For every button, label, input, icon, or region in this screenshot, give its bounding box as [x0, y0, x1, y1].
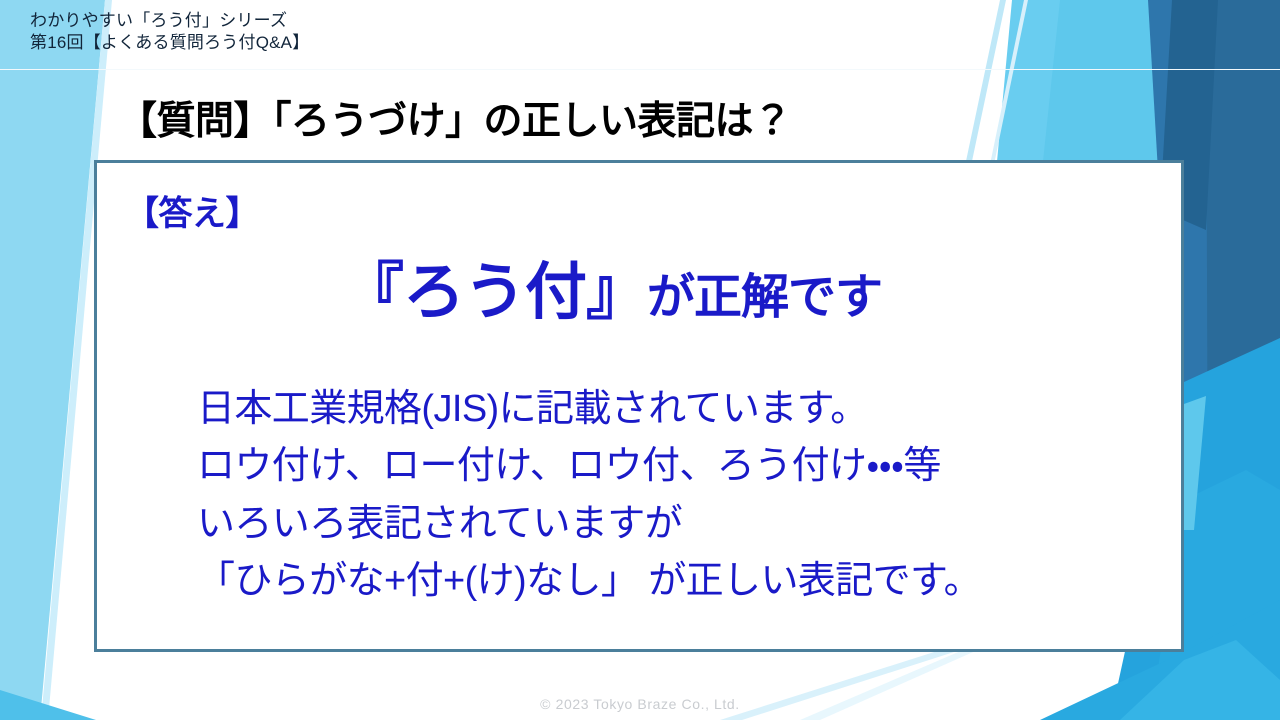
- answer-headline-emphasis: 『ろう付』: [342, 258, 647, 327]
- slide-canvas: わかりやすい「ろう付」シリーズ 第16回【よくある質問ろう付Q&A】 【質問】「…: [0, 0, 1280, 720]
- answer-body: 日本工業規格(JIS)に記載されています。 ロウ付け、ロー付け、ロウ付、ろう付け…: [197, 381, 981, 611]
- answer-label: 【答え】: [125, 186, 259, 235]
- answer-headline: 『ろう付』が正解です: [97, 241, 1187, 331]
- answer-headline-rest: が正解です: [647, 271, 882, 324]
- series-header-line1: わかりやすい「ろう付」シリーズ: [30, 10, 309, 32]
- answer-box: 【答え】 『ろう付』が正解です 日本工業規格(JIS)に記載されています。 ロウ…: [94, 160, 1184, 652]
- left-blue-wedge: [0, 0, 105, 720]
- series-header-line2: 第16回【よくある質問ろう付Q&A】: [30, 32, 309, 54]
- footer-copyright: © 2023 Tokyo Braze Co., Ltd.: [0, 696, 1280, 712]
- answer-body-line-1: 日本工業規格(JIS)に記載されています。: [197, 381, 981, 438]
- right-dark-blue-edge: [1206, 0, 1280, 560]
- page-title: 【質問】「ろうづけ」の正しい表記は？: [118, 90, 792, 146]
- series-header: わかりやすい「ろう付」シリーズ 第16回【よくある質問ろう付Q&A】: [30, 10, 309, 54]
- answer-body-line-4: 「ひらがな+付+(け)なし」 が正しい表記です。: [197, 553, 981, 610]
- answer-body-line-2: ロウ付け、ロー付け、ロウ付、ろう付け・・・等: [197, 438, 981, 495]
- lower-right-sky-sliver: [1184, 396, 1206, 530]
- answer-body-line-3: いろいろ表記されていますが: [197, 496, 981, 553]
- header-underline: [0, 69, 1280, 70]
